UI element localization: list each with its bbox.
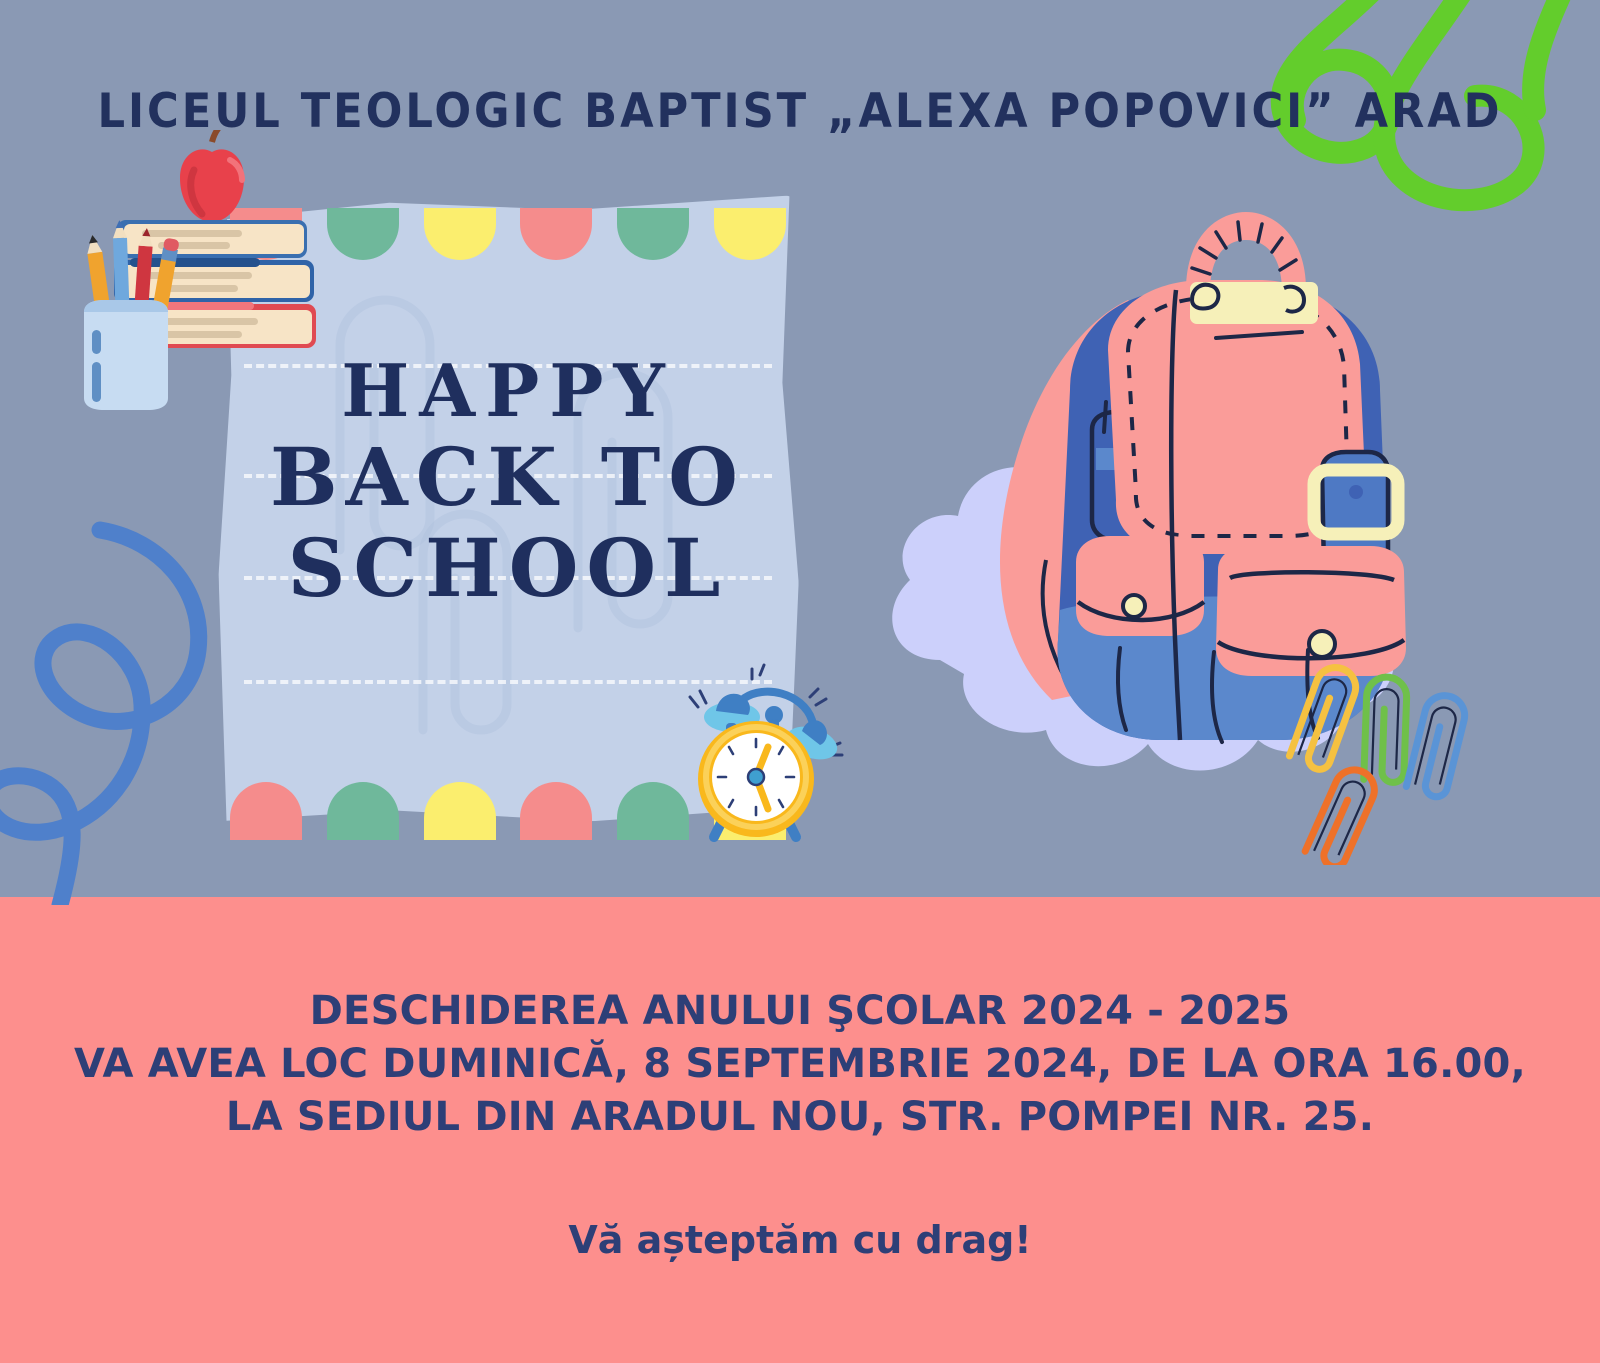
paperclips-group — [1265, 645, 1515, 865]
paperclip-orange-icon — [1304, 764, 1381, 865]
paperclip-yellow-icon — [1288, 662, 1361, 772]
announcement-line-1: DESCHIDEREA ANULUI ŞCOLAR 2024 - 2025 — [0, 985, 1600, 1038]
announcement-line-2: VA AVEA LOC DUMINICĂ, 8 SEPTEMBRIE 2024,… — [0, 1038, 1600, 1091]
books-apple-pencils-illustration — [62, 130, 362, 430]
headline-line-2: BACK TO — [218, 432, 798, 523]
poster-canvas: HAPPY BACK TO SCHOOL — [0, 0, 1600, 1363]
paperclip-green-icon — [1364, 676, 1408, 782]
school-title: LICEUL TEOLOGIC BAPTIST „ALEXA POPOVICI”… — [64, 84, 1536, 139]
announcement-line-3: LA SEDIUL DIN ARADUL NOU, STR. POMPEI NR… — [0, 1091, 1600, 1144]
apple-icon — [180, 130, 244, 222]
clock-center-pin — [748, 769, 764, 785]
alarm-clock-illustration — [660, 655, 860, 845]
paperclip-blue-icon — [1406, 691, 1469, 799]
blue-scribble-decoration — [0, 505, 240, 905]
announcement-block: DESCHIDEREA ANULUI ŞCOLAR 2024 - 2025 VA… — [0, 985, 1600, 1143]
pencil-cup-icon — [84, 300, 168, 410]
closing-message: Vă așteptăm cu drag! — [0, 1218, 1600, 1262]
headline-line-3: SCHOOL — [218, 523, 798, 614]
